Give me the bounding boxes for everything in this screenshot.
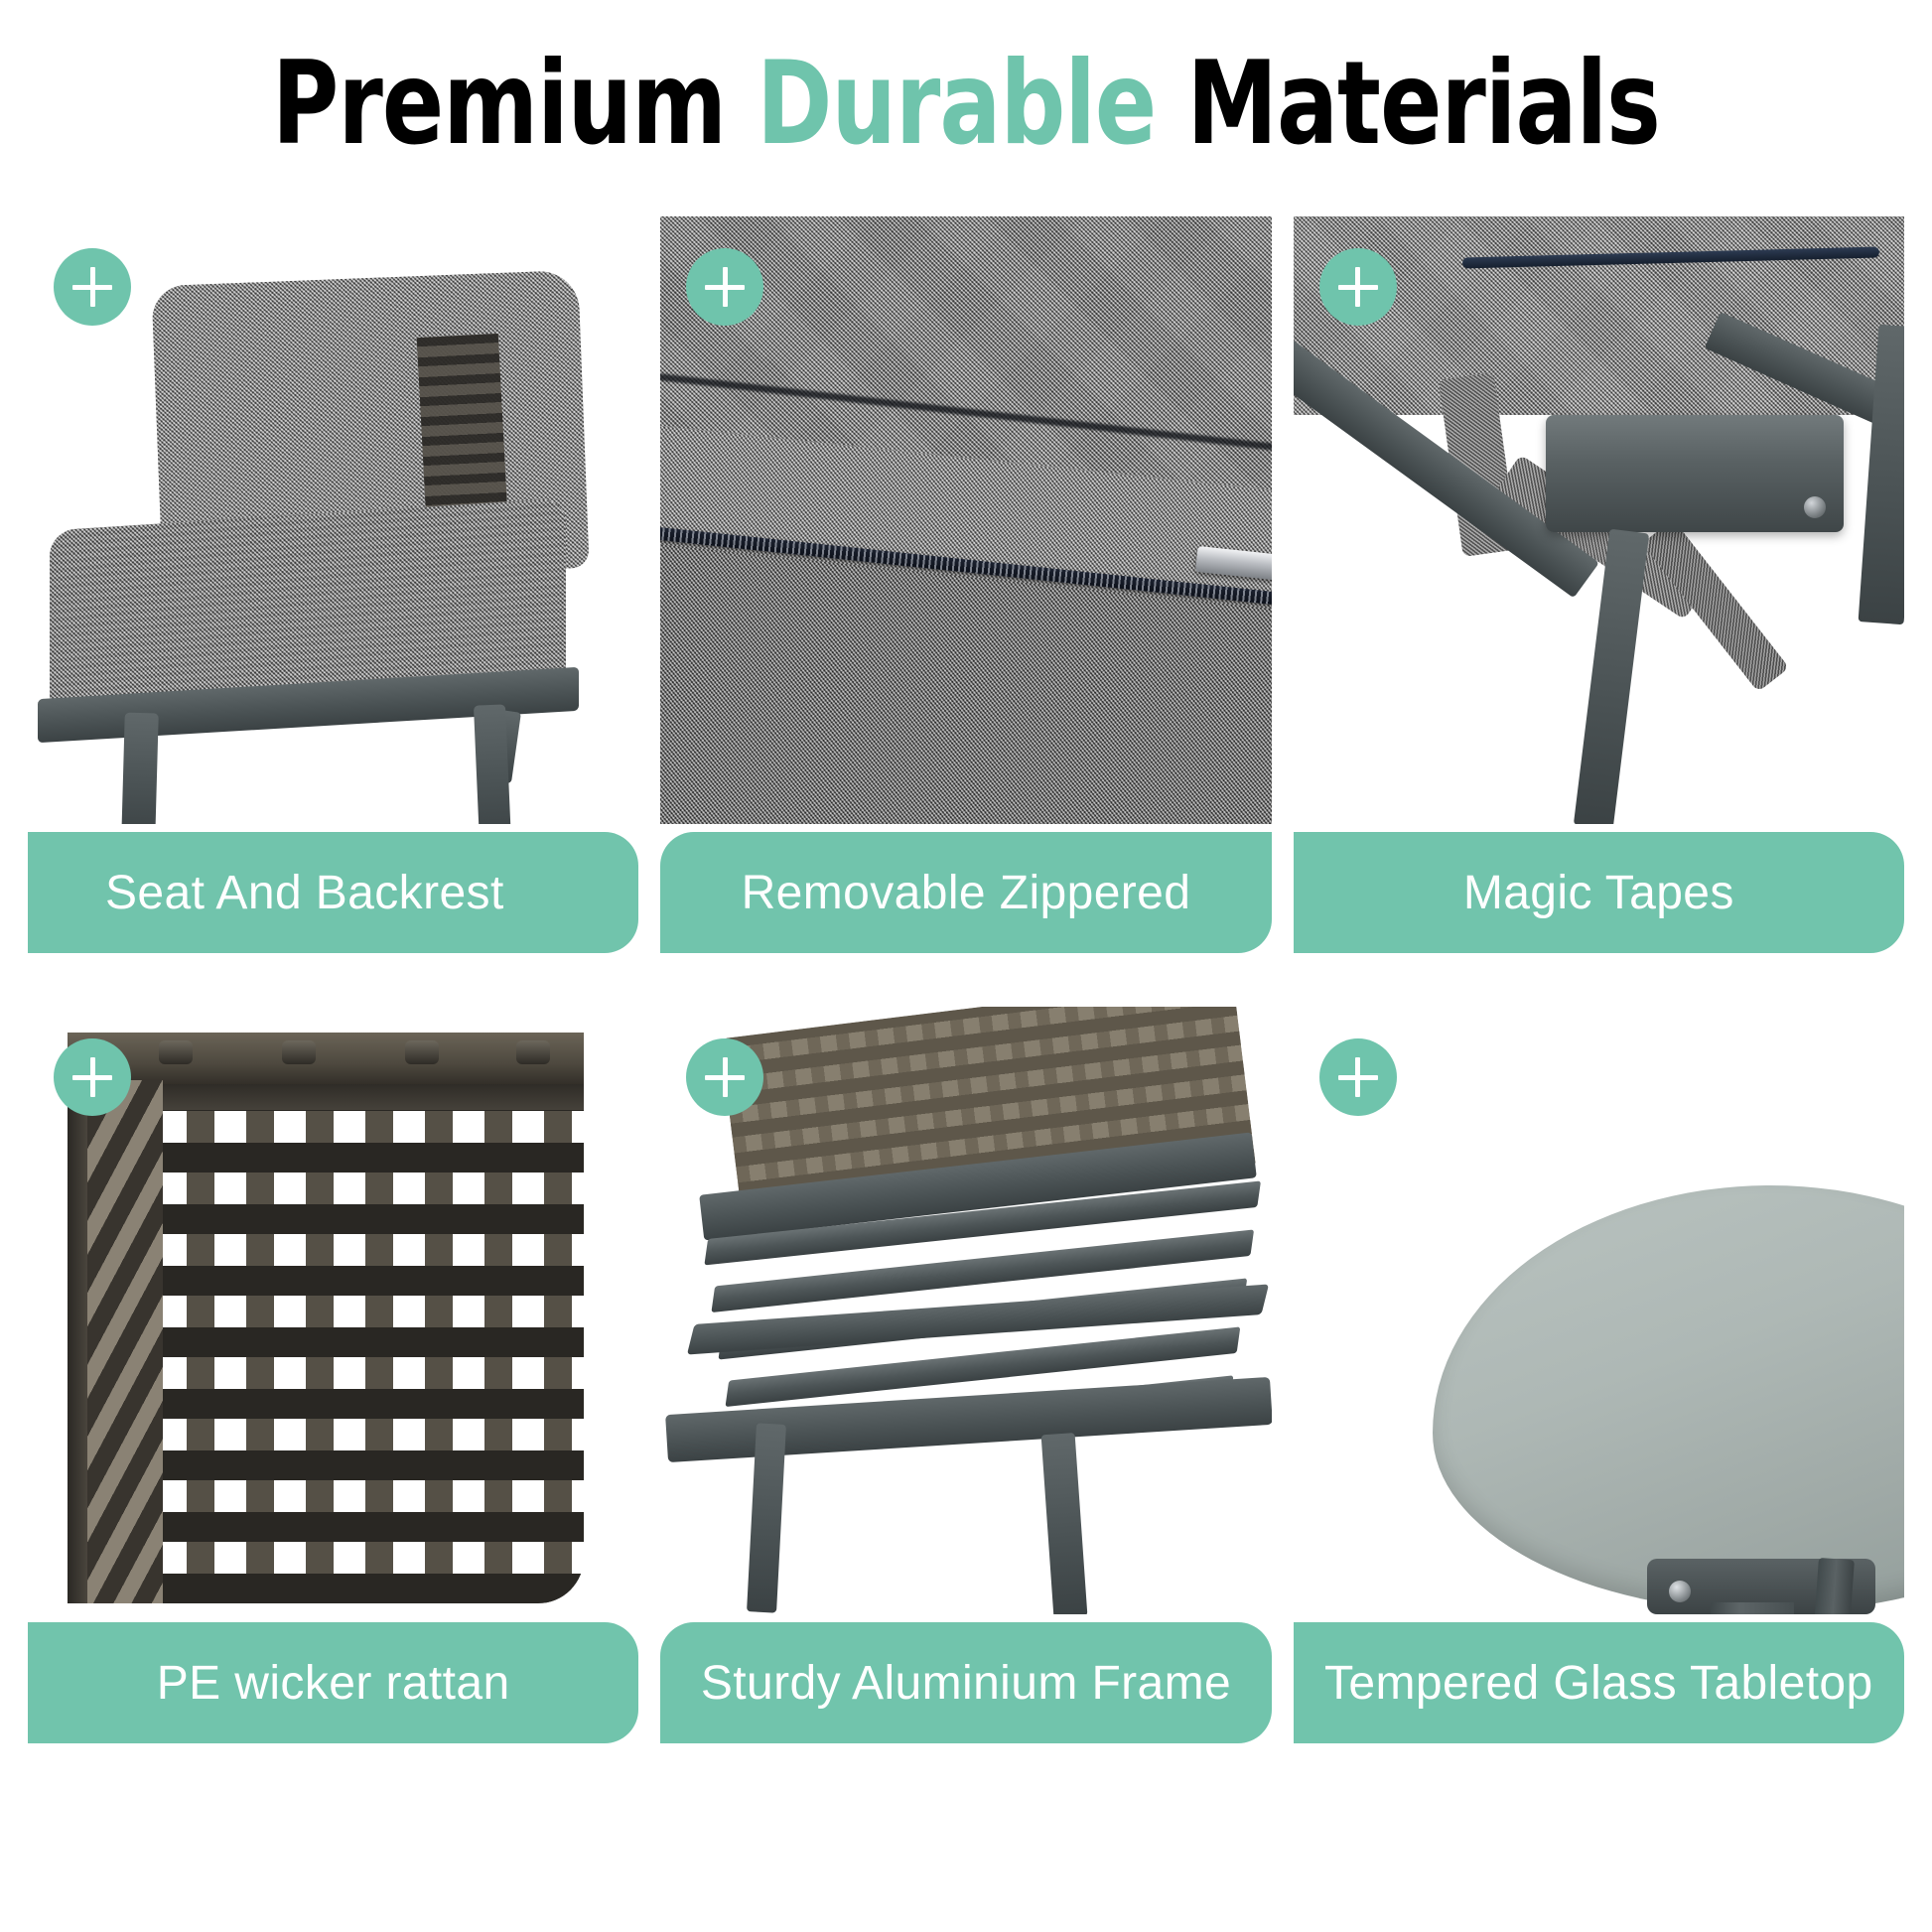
chair-leg-right — [474, 704, 511, 824]
wicker-left-edge — [68, 1080, 87, 1603]
plus-icon[interactable] — [686, 1038, 763, 1116]
plus-icon[interactable] — [54, 1038, 131, 1116]
chair-leg-left — [121, 713, 159, 824]
page-title: Premium Durable Materials — [0, 44, 1932, 165]
feature-label-seat-and-backrest: Seat And Backrest — [105, 866, 504, 920]
feature-label-sturdy-aluminium-frame: Sturdy Aluminium Frame — [701, 1656, 1231, 1711]
feature-label-removable-zippered: Removable Zippered — [742, 866, 1191, 920]
feature-card-pe-wicker-rattan[interactable]: PE wicker rattan — [28, 1007, 638, 1743]
wicker-stud — [282, 1040, 316, 1064]
title-accent-word: Durable — [757, 37, 1156, 171]
feature-banner-magic-tapes: Magic Tapes — [1294, 832, 1904, 953]
feature-label-magic-tapes: Magic Tapes — [1463, 866, 1734, 920]
feature-banner-sturdy-aluminium-frame: Sturdy Aluminium Frame — [660, 1622, 1271, 1743]
wicker-panel — [68, 1033, 584, 1603]
plus-icon[interactable] — [1319, 248, 1397, 326]
frame-corner-block — [1546, 415, 1844, 532]
feature-banner-pe-wicker-rattan: PE wicker rattan — [28, 1622, 638, 1743]
title-part-2: Materials — [1156, 37, 1660, 171]
tabletop-screw — [1669, 1581, 1691, 1602]
feature-card-seat-and-backrest[interactable]: Seat And Backrest — [28, 216, 638, 953]
feature-banner-tempered-glass-tabletop: Tempered Glass Tabletop — [1294, 1622, 1904, 1743]
table-centre-column — [1711, 1602, 1794, 1614]
feature-card-magic-tapes[interactable]: Magic Tapes — [1294, 216, 1904, 953]
wicker-stud — [516, 1040, 550, 1064]
wicker-top-rail — [68, 1033, 584, 1084]
feature-banner-removable-zippered: Removable Zippered — [660, 832, 1271, 953]
wicker-stud — [159, 1040, 193, 1064]
plus-icon[interactable] — [1319, 1038, 1397, 1116]
feature-label-tempered-glass-tabletop: Tempered Glass Tabletop — [1324, 1656, 1873, 1711]
feature-grid: Seat And Backrest — [28, 216, 1904, 1743]
plus-icon[interactable] — [686, 248, 763, 326]
feature-card-removable-zippered[interactable]: Removable Zippered — [660, 216, 1271, 953]
plus-icon[interactable] — [54, 248, 131, 326]
feature-banner-seat-and-backrest: Seat And Backrest — [28, 832, 638, 953]
feature-card-tempered-glass-tabletop[interactable]: Tempered Glass Tabletop — [1294, 1007, 1904, 1743]
feature-card-sturdy-aluminium-frame[interactable]: Sturdy Aluminium Frame — [660, 1007, 1271, 1743]
title-part-1: Premium — [272, 37, 757, 171]
wicker-stud — [405, 1040, 439, 1064]
feature-label-pe-wicker-rattan: PE wicker rattan — [157, 1656, 510, 1711]
infographic-page: Premium Durable Materials Seat And — [0, 0, 1932, 1932]
